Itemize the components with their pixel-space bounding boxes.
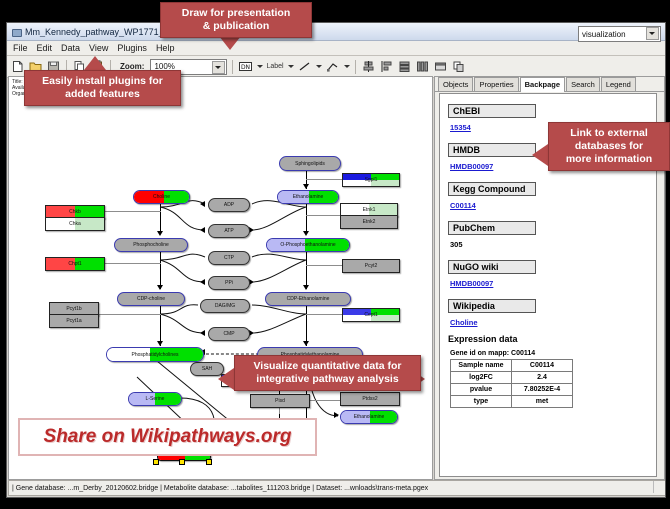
connector-chpt1 [103, 263, 161, 264]
label-dropdown-icon[interactable] [287, 60, 294, 73]
visualization-combo[interactable]: visualization [578, 26, 661, 42]
shape-tool-icon[interactable] [325, 59, 340, 74]
screenshot-root: Mm_Kennedy_pathway_WP1771_45176.gp File … [0, 0, 670, 509]
callout-link-line2: databases for [555, 140, 663, 153]
line-dropdown-icon[interactable] [315, 60, 322, 73]
gene-cept1[interactable]: Cept1 [342, 308, 400, 322]
share-text: Share on Wikipathways.org [44, 426, 292, 448]
shape-dropdown-icon[interactable] [343, 60, 350, 73]
chevron-down-icon[interactable] [646, 27, 659, 40]
tab-legend[interactable]: Legend [601, 77, 636, 91]
callout-link-databases: Link to external databases for more info… [548, 122, 670, 171]
line-tool-icon[interactable] [297, 59, 312, 74]
table-row: pvalue 7.80252E-4 [451, 384, 573, 396]
node-cmp[interactable]: CMP [208, 327, 250, 341]
backpage-head-nugo: NuGO wiki [448, 260, 536, 274]
gene-etnk2[interactable]: Etnk2 [340, 215, 398, 229]
callout-plugins-tail [84, 56, 106, 70]
connector-sgpl1 [306, 179, 342, 180]
expression-table: Sample name C00114 log2FC 2.4 pvalue 7.8… [450, 359, 573, 408]
callout-visualize-line1: Visualize quantitative data for [241, 360, 414, 373]
group-icon[interactable] [433, 59, 448, 74]
menu-edit[interactable]: Edit [37, 43, 53, 53]
share-banner: Share on Wikipathways.org [18, 418, 317, 456]
backpage-link-wikipedia[interactable]: Choline [450, 318, 648, 327]
gene-ptdss2[interactable]: Ptdss2 [340, 392, 400, 406]
node-adp[interactable]: ADP [208, 198, 250, 212]
status-bar: | Gene database: ...m_Derby_20120602.bri… [8, 480, 666, 496]
gene-chpt1[interactable]: Chpt1 [45, 257, 105, 271]
cell-value: 7.80252E-4 [512, 384, 573, 396]
cell-label: Sample name [451, 360, 512, 372]
menu-file[interactable]: File [13, 43, 28, 53]
node-atp[interactable]: ATP [208, 224, 250, 238]
toolbar-separator [232, 60, 233, 74]
tab-properties[interactable]: Properties [474, 77, 518, 91]
edge-ophospho-cdpethanolamine [306, 250, 307, 289]
side-panel-tabs: Objects Properties Backpage Search Legen… [435, 77, 664, 92]
backpage-head-wikipedia: Wikipedia [448, 299, 536, 313]
node-ethanolamine-right[interactable]: Ethanolamine [340, 410, 398, 424]
node-dag-mg[interactable]: DAG/MG [200, 299, 250, 313]
edge-ethanolamine-ophospho [306, 202, 307, 234]
connector-chkb [103, 211, 161, 212]
edge-phosphocholine-cdpcholine [160, 250, 161, 289]
cell-label: log2FC [451, 372, 512, 384]
pathvisio-icon [11, 27, 21, 37]
edge-choline-phosphocholine [160, 202, 161, 233]
gene-chka[interactable]: Chka [45, 217, 105, 231]
node-ethanolamine[interactable]: Ethanolamine [277, 190, 339, 204]
order-icon[interactable] [451, 59, 466, 74]
distribute-icon[interactable] [415, 59, 430, 74]
resize-grip[interactable] [653, 481, 665, 493]
callout-draw-line2: & publication [167, 20, 305, 33]
gene-pcyt1a[interactable]: Pcyt1a [49, 314, 99, 328]
callout-visualize: Visualize quantitative data for integrat… [234, 355, 421, 391]
node-cdp-choline[interactable]: CDP-choline [117, 292, 185, 306]
status-text: | Gene database: ...m_Derby_20120602.bri… [12, 485, 428, 492]
cell-label: type [451, 396, 512, 408]
menu-data[interactable]: Data [61, 43, 80, 53]
connector-cept1 [306, 314, 342, 315]
connector-ptdss2 [308, 400, 340, 401]
toolbar-separator [355, 60, 356, 74]
node-choline[interactable]: Choline [133, 190, 190, 204]
node-phosphatidylcholines[interactable]: Phosphatidylcholines [106, 347, 204, 362]
backpage-head-chebi: ChEBI [448, 104, 536, 118]
menu-plugins[interactable]: Plugins [117, 43, 147, 53]
tab-search[interactable]: Search [566, 77, 600, 91]
arrow-down-icon [303, 184, 309, 189]
backpage-head-hmdb: HMDB [448, 143, 536, 157]
cell-value: met [512, 396, 573, 408]
gene-sgpl1[interactable]: Sgpl1 [342, 173, 400, 187]
expression-data-title: Expression data [448, 334, 648, 344]
cell-value: C00114 [512, 360, 573, 372]
callout-plugins-line2: added features [31, 88, 174, 101]
arrow-down-icon [157, 341, 163, 346]
edge-cdpcholine-ptdcholine [160, 304, 161, 346]
callout-visualize-tail-left [218, 368, 234, 390]
callout-plugins: Easily install plugins for added feature… [24, 70, 181, 106]
callout-link-line3: more information [555, 153, 663, 166]
edge-cdpethanolamine-ptdethanolamine [306, 304, 307, 346]
datanode-dropdown-icon[interactable] [256, 60, 263, 73]
node-phosphocholine[interactable]: Phosphocholine [114, 238, 188, 252]
callout-draw-line1: Draw for presentation [167, 7, 305, 20]
callout-link-line1: Link to external [555, 127, 663, 140]
arrow-down-icon [157, 285, 163, 290]
node-ctp[interactable]: CTP [208, 251, 250, 265]
arrow-down-icon [303, 285, 309, 290]
backpage-head-kegg: Kegg Compound [448, 182, 536, 196]
backpage-value-pubchem: 305 [450, 240, 648, 249]
selection-handle[interactable] [179, 459, 185, 465]
gene-pcyt2[interactable]: Pcyt2 [342, 259, 400, 273]
backpage-link-nugo[interactable]: HMDB00097 [450, 279, 648, 288]
connector-pcyt1 [97, 314, 161, 315]
stack-icon[interactable] [397, 59, 412, 74]
arrow-left-icon [200, 227, 205, 233]
table-row: type met [451, 396, 573, 408]
cell-value: 2.4 [512, 372, 573, 384]
node-ppi[interactable]: PPi [208, 276, 250, 290]
arrow-down-icon [303, 231, 309, 236]
selection-handle[interactable] [206, 459, 212, 465]
table-row: log2FC 2.4 [451, 372, 573, 384]
gene-pisd[interactable]: Pisd [250, 394, 310, 408]
chevron-down-icon[interactable] [212, 61, 225, 74]
title-bar: Mm_Kennedy_pathway_WP1771_45176.gp [7, 23, 665, 41]
svg-text:DN: DN [241, 64, 250, 71]
arrow-left-icon [200, 279, 205, 285]
arrow-left-icon [200, 330, 205, 336]
arrow-down-icon [303, 341, 309, 346]
menu-bar: File Edit Data View Plugins Help [7, 41, 665, 56]
node-cdp-ethanolamine[interactable]: CDP-Ethanolamine [265, 292, 351, 306]
tab-objects[interactable]: Objects [438, 77, 473, 91]
datanode-icon[interactable]: DN [238, 59, 253, 74]
label-tool-label[interactable]: Label [266, 63, 283, 70]
connector-etnk [306, 215, 340, 216]
callout-draw-tail [219, 36, 241, 50]
menu-help[interactable]: Help [156, 43, 175, 53]
node-sphingolipids[interactable]: Sphingolipids [279, 156, 341, 171]
callout-draw: Draw for presentation & publication [160, 2, 312, 38]
selection-handle[interactable] [153, 459, 159, 465]
align-left-icon[interactable] [379, 59, 394, 74]
cell-label: pvalue [451, 384, 512, 396]
align-center-icon[interactable] [361, 59, 376, 74]
arrow-down-icon [157, 231, 163, 236]
callout-link-tail [532, 144, 548, 166]
menu-view[interactable]: View [89, 43, 108, 53]
callout-visualize-line2: integrative pathway analysis [241, 373, 414, 386]
backpage-link-kegg[interactable]: C00114 [450, 201, 648, 210]
table-row: Sample name C00114 [451, 360, 573, 372]
backpage-head-pubchem: PubChem [448, 221, 536, 235]
tab-backpage[interactable]: Backpage [520, 77, 565, 92]
node-o-phosphoethanolamine[interactable]: O-Phosphoethanolamine [266, 238, 350, 252]
gene-id-line: Gene id on mapp: C00114 [450, 350, 648, 357]
arrow-left-icon [200, 201, 205, 207]
callout-plugins-line1: Easily install plugins for [31, 75, 174, 88]
node-l-serine-left[interactable]: L-Serine [128, 392, 182, 406]
visualization-value: visualization [582, 30, 626, 39]
arrow-right-icon [334, 412, 339, 418]
new-file-icon[interactable] [10, 59, 25, 74]
connector-pcyt2 [306, 265, 342, 266]
